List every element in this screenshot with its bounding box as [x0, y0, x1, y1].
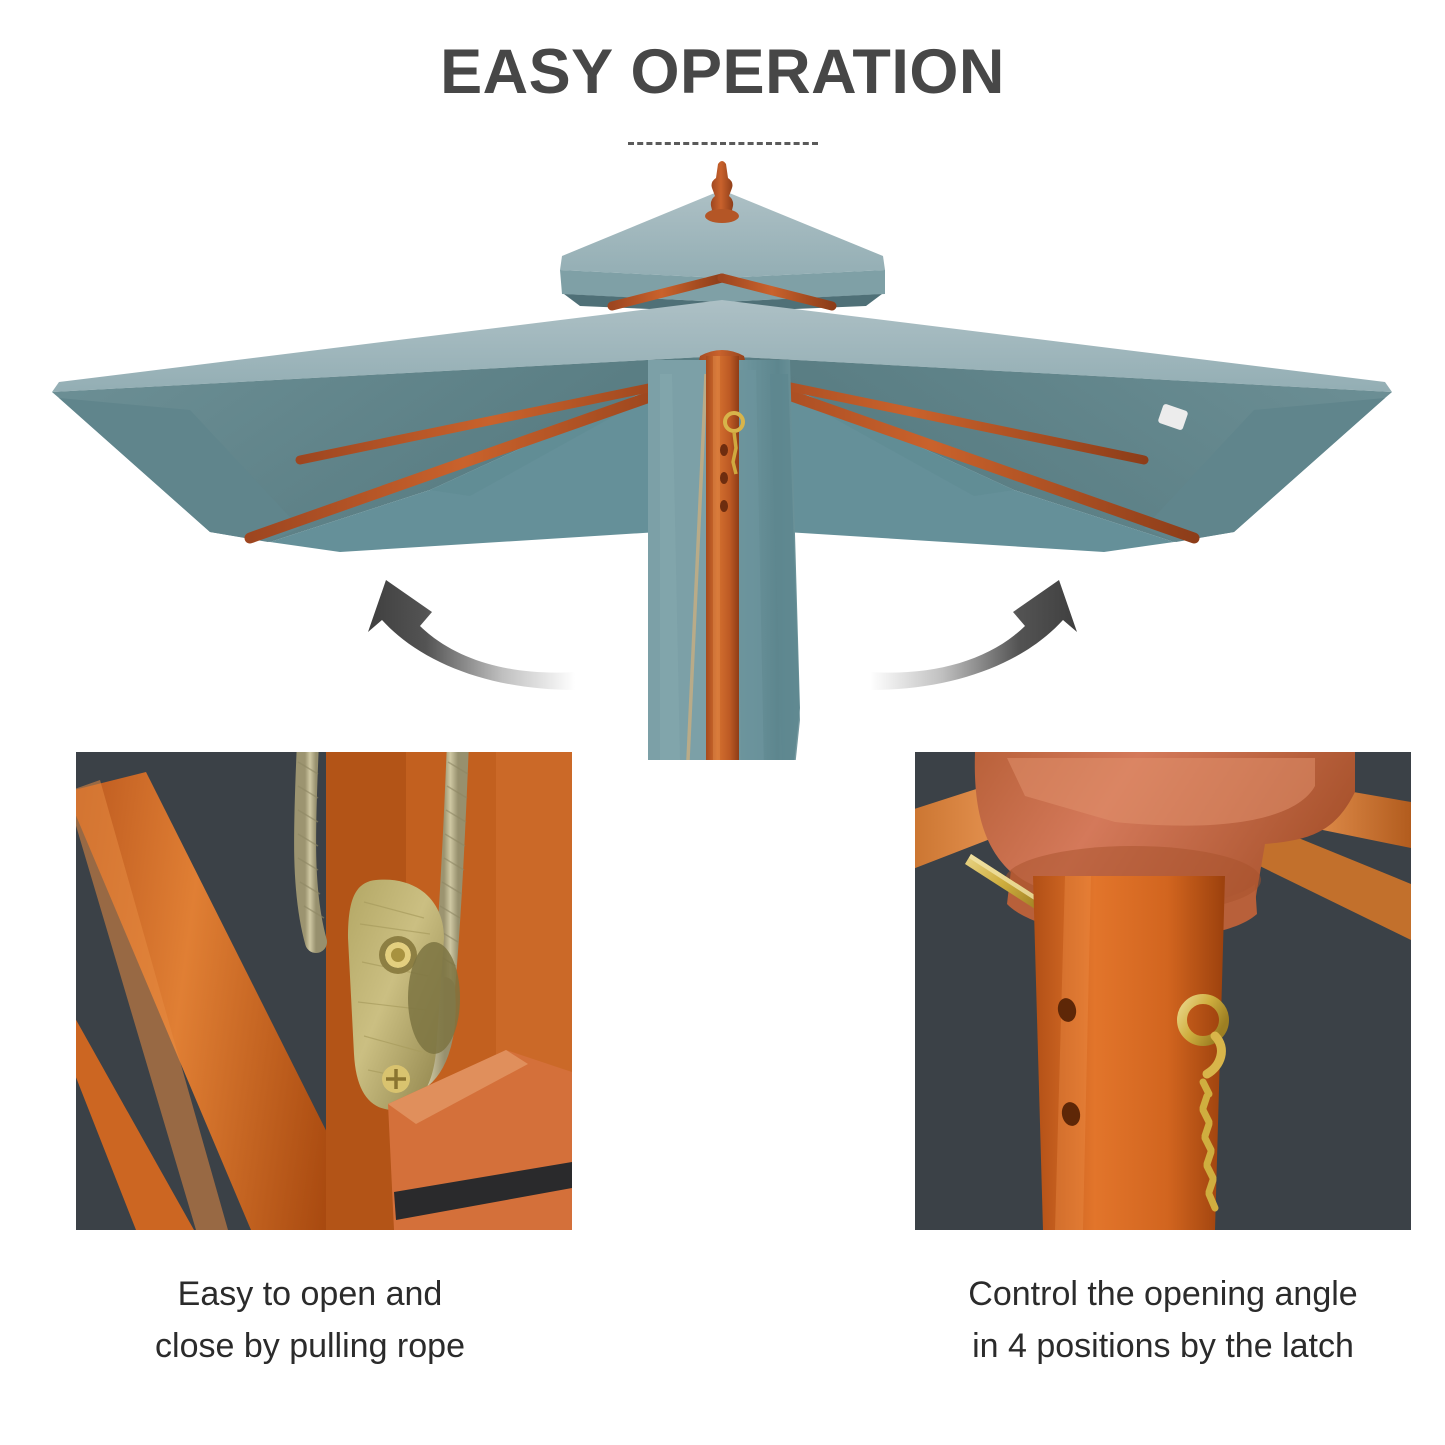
caption-line-2: close by pulling rope — [62, 1320, 558, 1372]
pulley-sheave — [408, 942, 460, 1054]
direction-arrows — [0, 540, 1445, 720]
infographic-page: EASY OPERATION — [0, 0, 1445, 1445]
caption-line-1: Control the opening angle — [968, 1275, 1357, 1313]
wooden-pole — [1033, 876, 1225, 1230]
caption-line-1: Easy to open and — [178, 1275, 443, 1313]
feature-photo-pin-latch — [915, 752, 1411, 1230]
feature-caption-pin-latch: Control the opening angle in 4 positions… — [915, 1268, 1411, 1372]
page-title: EASY OPERATION — [0, 36, 1445, 108]
open-direction-arrow-left — [368, 580, 575, 690]
open-direction-arrow-right — [870, 580, 1077, 690]
brass-screw — [382, 1065, 410, 1093]
feature-caption-pulley-rope: Easy to open and close by pulling rope — [62, 1268, 558, 1372]
caption-line-2: in 4 positions by the latch — [915, 1320, 1411, 1372]
feature-photo-pulley-rope — [76, 752, 572, 1230]
title-divider — [628, 142, 818, 145]
wooden-finial — [705, 161, 739, 223]
